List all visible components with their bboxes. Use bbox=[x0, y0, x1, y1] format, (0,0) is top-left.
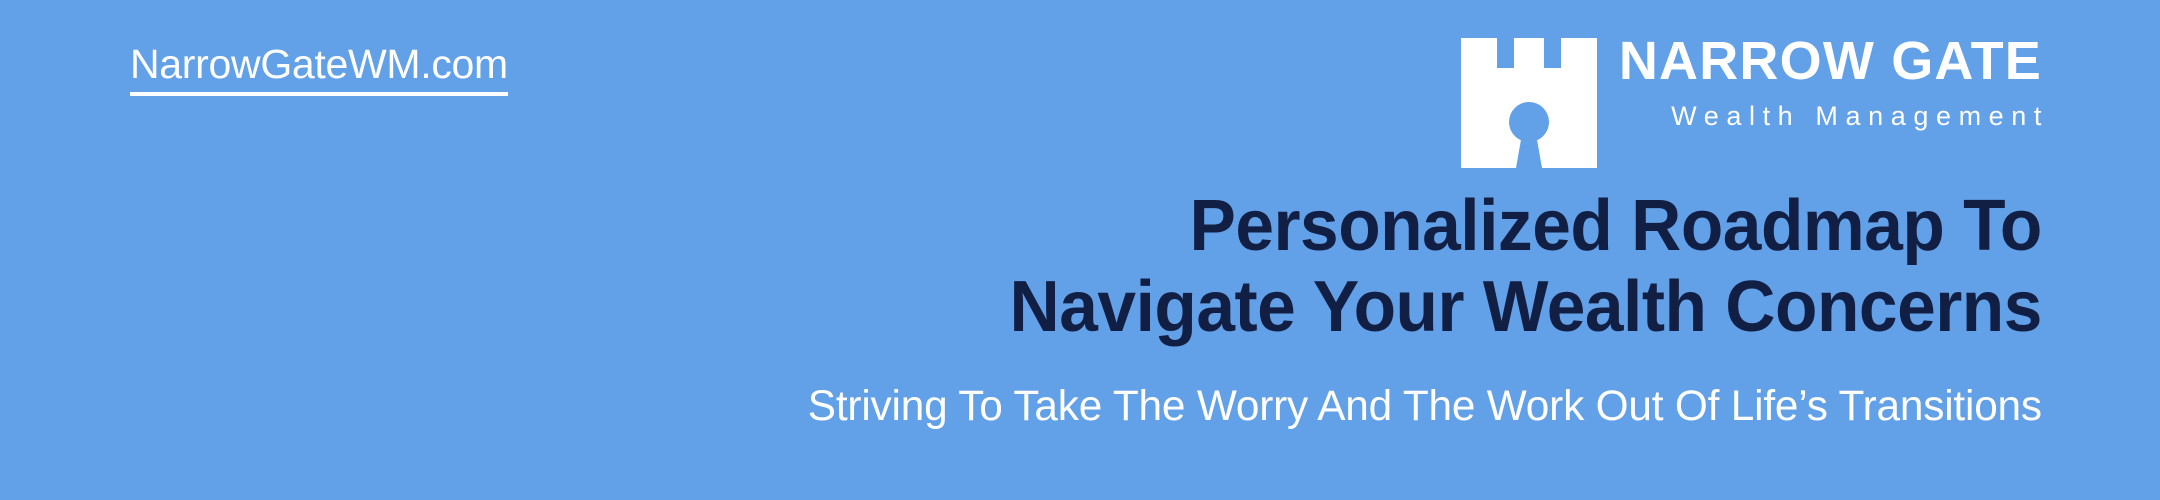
promo-banner: NarrowGateWM.com NARROW GATE Wealth Mana… bbox=[0, 0, 2160, 500]
brand-text-block: NARROW GATE Wealth Management bbox=[1619, 28, 2042, 130]
headline-line-2: Navigate Your Wealth Concerns bbox=[833, 267, 2042, 348]
brand-subtitle: Wealth Management bbox=[1671, 103, 2049, 130]
headline-block: Personalized Roadmap To Navigate Your We… bbox=[789, 186, 2042, 428]
brand-name: NARROW GATE bbox=[1619, 34, 2042, 89]
headline-line-1: Personalized Roadmap To bbox=[833, 186, 2042, 267]
website-link[interactable]: NarrowGateWM.com bbox=[130, 44, 508, 96]
castle-gate-keyhole-icon bbox=[1461, 32, 1597, 168]
tagline: Striving To Take The Worry And The Work … bbox=[808, 385, 2042, 428]
brand-lockup: NARROW GATE Wealth Management bbox=[1461, 28, 2042, 168]
